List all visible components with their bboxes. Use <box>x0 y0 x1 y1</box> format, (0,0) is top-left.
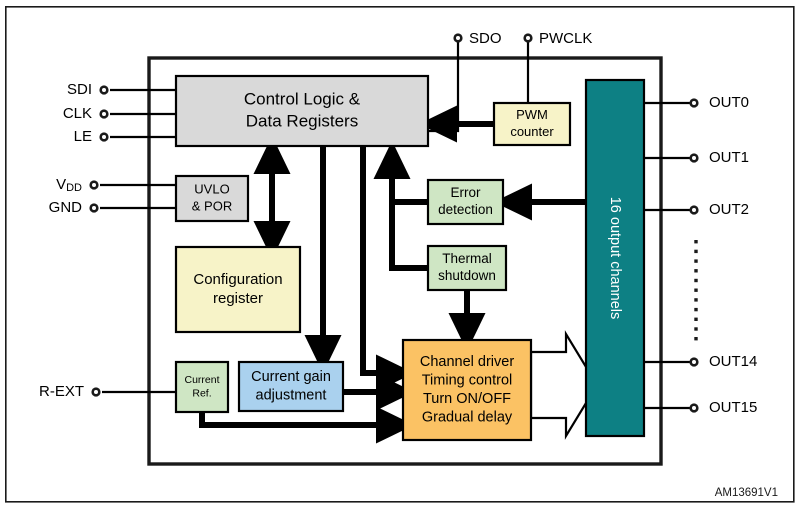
block-diagram-figure: Control Logic &Data RegistersUVLO& PORCo… <box>0 0 800 509</box>
pin-dot-REXT[interactable] <box>91 387 100 396</box>
pin-dot-PWCLK[interactable] <box>523 33 532 42</box>
block-uvlo_por: UVLO& POR <box>176 176 248 221</box>
pin-dot-VDD[interactable] <box>89 180 98 189</box>
pin-PWCLK[interactable]: PWCLK <box>523 30 592 47</box>
ellipsis-dot <box>694 327 697 330</box>
block-pwm_counter: PWMcounter <box>494 103 570 145</box>
block-thermal_shutdown: Thermalshutdown <box>428 246 506 290</box>
pin-label-SDI: SDI <box>67 81 92 98</box>
pin-OUT1[interactable]: OUT1 <box>689 149 749 166</box>
pin-VDD[interactable]: VDD <box>56 176 99 194</box>
block-label-control_logic-line0: Control Logic & <box>244 90 361 109</box>
block-label-control_logic-line1: Data Registers <box>246 111 358 130</box>
ellipsis-dot <box>694 298 697 301</box>
pin-label-REXT: R-EXT <box>39 383 84 400</box>
block-current_ref: CurrentRef. <box>176 362 228 412</box>
output-ellipsis <box>694 240 697 340</box>
figure-id-label: AM13691V1 <box>715 487 778 499</box>
block-label-uvlo_por-line0: UVLO <box>194 182 229 197</box>
block-label-pwm_counter-line1: counter <box>510 124 554 139</box>
pin-SDO[interactable]: SDO <box>453 30 501 47</box>
block-label-channel_driver-line1: Timing control <box>422 373 513 389</box>
block-label-channel_driver-line0: Channel driver <box>420 354 514 370</box>
pin-REXT[interactable]: R-EXT <box>39 383 101 400</box>
block-label-output_channels: 16 output channels <box>607 197 623 320</box>
pin-CLK[interactable]: CLK <box>63 105 109 122</box>
pin-label-OUT15: OUT15 <box>709 399 757 416</box>
ellipsis-dot <box>694 308 697 311</box>
block-label-error_detection-line0: Error <box>451 185 482 200</box>
ellipsis-dot <box>694 289 697 292</box>
pin-SDI[interactable]: SDI <box>67 81 109 98</box>
pin-label-VDD: VDD <box>56 176 82 194</box>
block-control_logic: Control Logic &Data Registers <box>176 76 428 146</box>
pin-dot-GND[interactable] <box>89 203 98 212</box>
pin-label-OUT1: OUT1 <box>709 149 749 166</box>
arrow-thermal-to-control <box>392 205 428 268</box>
arrow-currentref-to-driver <box>202 412 395 425</box>
diagram-canvas: Control Logic &Data RegistersUVLO& PORCo… <box>0 0 800 509</box>
pin-label-OUT2: OUT2 <box>709 201 749 218</box>
block-label-config_register-line0: Configuration <box>193 271 282 288</box>
pin-dot-OUT15[interactable] <box>689 403 698 412</box>
pin-OUT2[interactable]: OUT2 <box>689 201 749 218</box>
pin-OUT0[interactable]: OUT0 <box>689 94 749 111</box>
block-label-config_register-line1: register <box>213 290 263 307</box>
pin-label-CLK: CLK <box>63 105 92 122</box>
ellipsis-dot <box>694 240 697 243</box>
block-label-thermal_shutdown-line1: shutdown <box>438 268 496 283</box>
block-label-pwm_counter-line0: PWM <box>516 107 548 122</box>
block-label-current_ref-line1: Ref. <box>192 388 211 400</box>
block-label-uvlo_por-line1: & POR <box>192 198 232 213</box>
pin-label-PWCLK: PWCLK <box>539 30 592 47</box>
pin-dot-CLK[interactable] <box>99 109 108 118</box>
pin-GND[interactable]: GND <box>49 199 99 216</box>
pin-dot-SDI[interactable] <box>99 85 108 94</box>
arrow-error-to-control <box>392 160 428 202</box>
pin-dot-OUT2[interactable] <box>689 205 698 214</box>
pin-dot-OUT14[interactable] <box>689 357 698 366</box>
block-label-current_gain-line0: Current gain <box>251 369 331 385</box>
ellipsis-dot <box>694 318 697 321</box>
pin-LE[interactable]: LE <box>74 128 109 145</box>
block-error_detection: Errordetection <box>428 180 503 224</box>
block-channel_driver: Channel driverTiming controlTurn ON/OFFG… <box>403 340 531 440</box>
block-current_gain: Current gainadjustment <box>239 362 343 411</box>
block-label-current_ref-line0: Current <box>184 374 219 386</box>
block-config_register: Configurationregister <box>176 247 300 332</box>
ellipsis-dot <box>694 337 697 340</box>
pin-label-LE: LE <box>74 128 92 145</box>
pin-dot-OUT0[interactable] <box>689 98 698 107</box>
pin-dot-LE[interactable] <box>99 132 108 141</box>
block-output_channels: 16 output channels <box>586 80 644 436</box>
block-label-channel_driver-line2: Turn ON/OFF <box>423 391 511 407</box>
block-label-channel_driver-line3: Gradual delay <box>422 410 513 426</box>
ellipsis-dot <box>694 269 697 272</box>
pin-label-OUT0: OUT0 <box>709 94 749 111</box>
pin-label-OUT14: OUT14 <box>709 353 757 370</box>
pin-OUT14[interactable]: OUT14 <box>689 353 757 370</box>
ellipsis-dot <box>694 250 697 253</box>
block-label-thermal_shutdown-line0: Thermal <box>442 251 492 266</box>
pin-label-GND: GND <box>49 199 83 216</box>
block-label-current_gain-line1: adjustment <box>256 388 327 404</box>
pin-dot-SDO[interactable] <box>453 33 462 42</box>
pin-dot-OUT1[interactable] <box>689 153 698 162</box>
ellipsis-dot <box>694 259 697 262</box>
ellipsis-dot <box>694 279 697 282</box>
pin-label-SDO: SDO <box>469 30 502 47</box>
pin-OUT15[interactable]: OUT15 <box>689 399 757 416</box>
wire-sdo <box>428 42 458 131</box>
block-label-error_detection-line1: detection <box>438 202 493 217</box>
